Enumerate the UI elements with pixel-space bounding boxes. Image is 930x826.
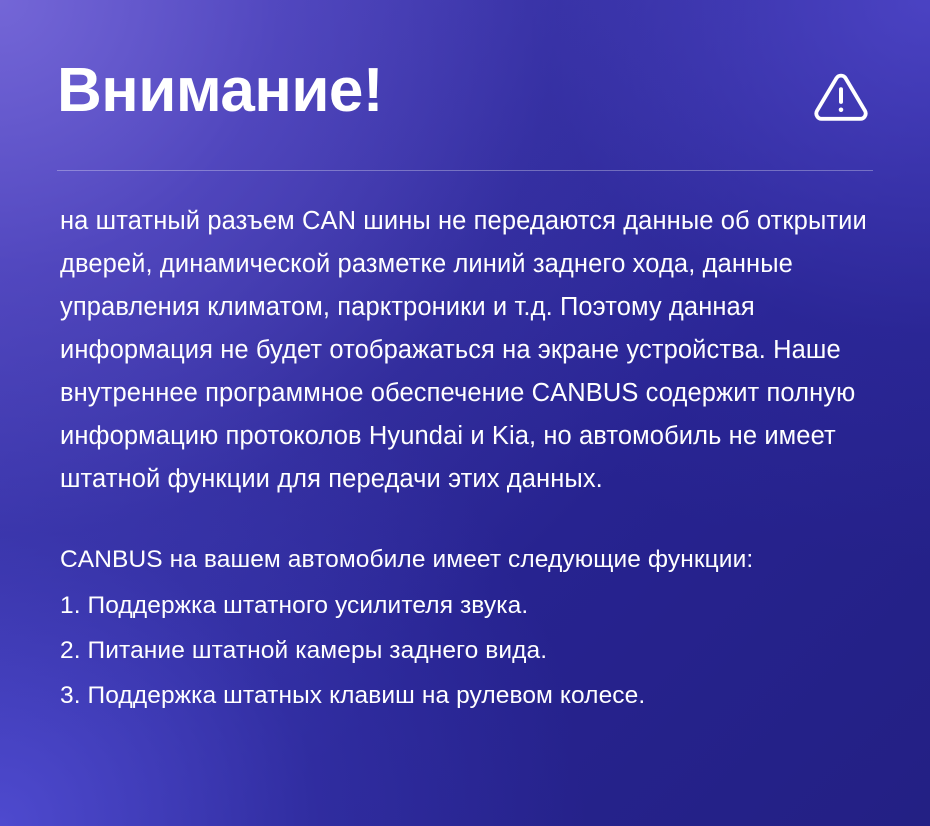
warning-triangle-icon	[812, 67, 870, 125]
notice-paragraph: на штатный разъем CAN шины не передаются…	[60, 200, 878, 501]
features-block: CANBUS на вашем автомобиле имеет следующ…	[60, 539, 878, 718]
features-intro-text: CANBUS на вашем автомобиле имеет следующ…	[60, 539, 878, 581]
page-title: Внимание!	[57, 60, 383, 122]
list-item: 2. Питание штатной камеры заднего вида.	[60, 628, 878, 673]
card-body: на штатный разъем CAN шины не передаются…	[60, 200, 878, 718]
features-list: 1. Поддержка штатного усилителя звука. 2…	[60, 583, 878, 718]
warning-notice-card: Внимание! на штатный разъем CAN шины не …	[0, 0, 930, 826]
header-divider	[57, 170, 873, 171]
list-item: 1. Поддержка штатного усилителя звука.	[60, 583, 878, 628]
list-item: 3. Поддержка штатных клавиш на рулевом к…	[60, 673, 878, 718]
card-header: Внимание!	[57, 48, 873, 138]
